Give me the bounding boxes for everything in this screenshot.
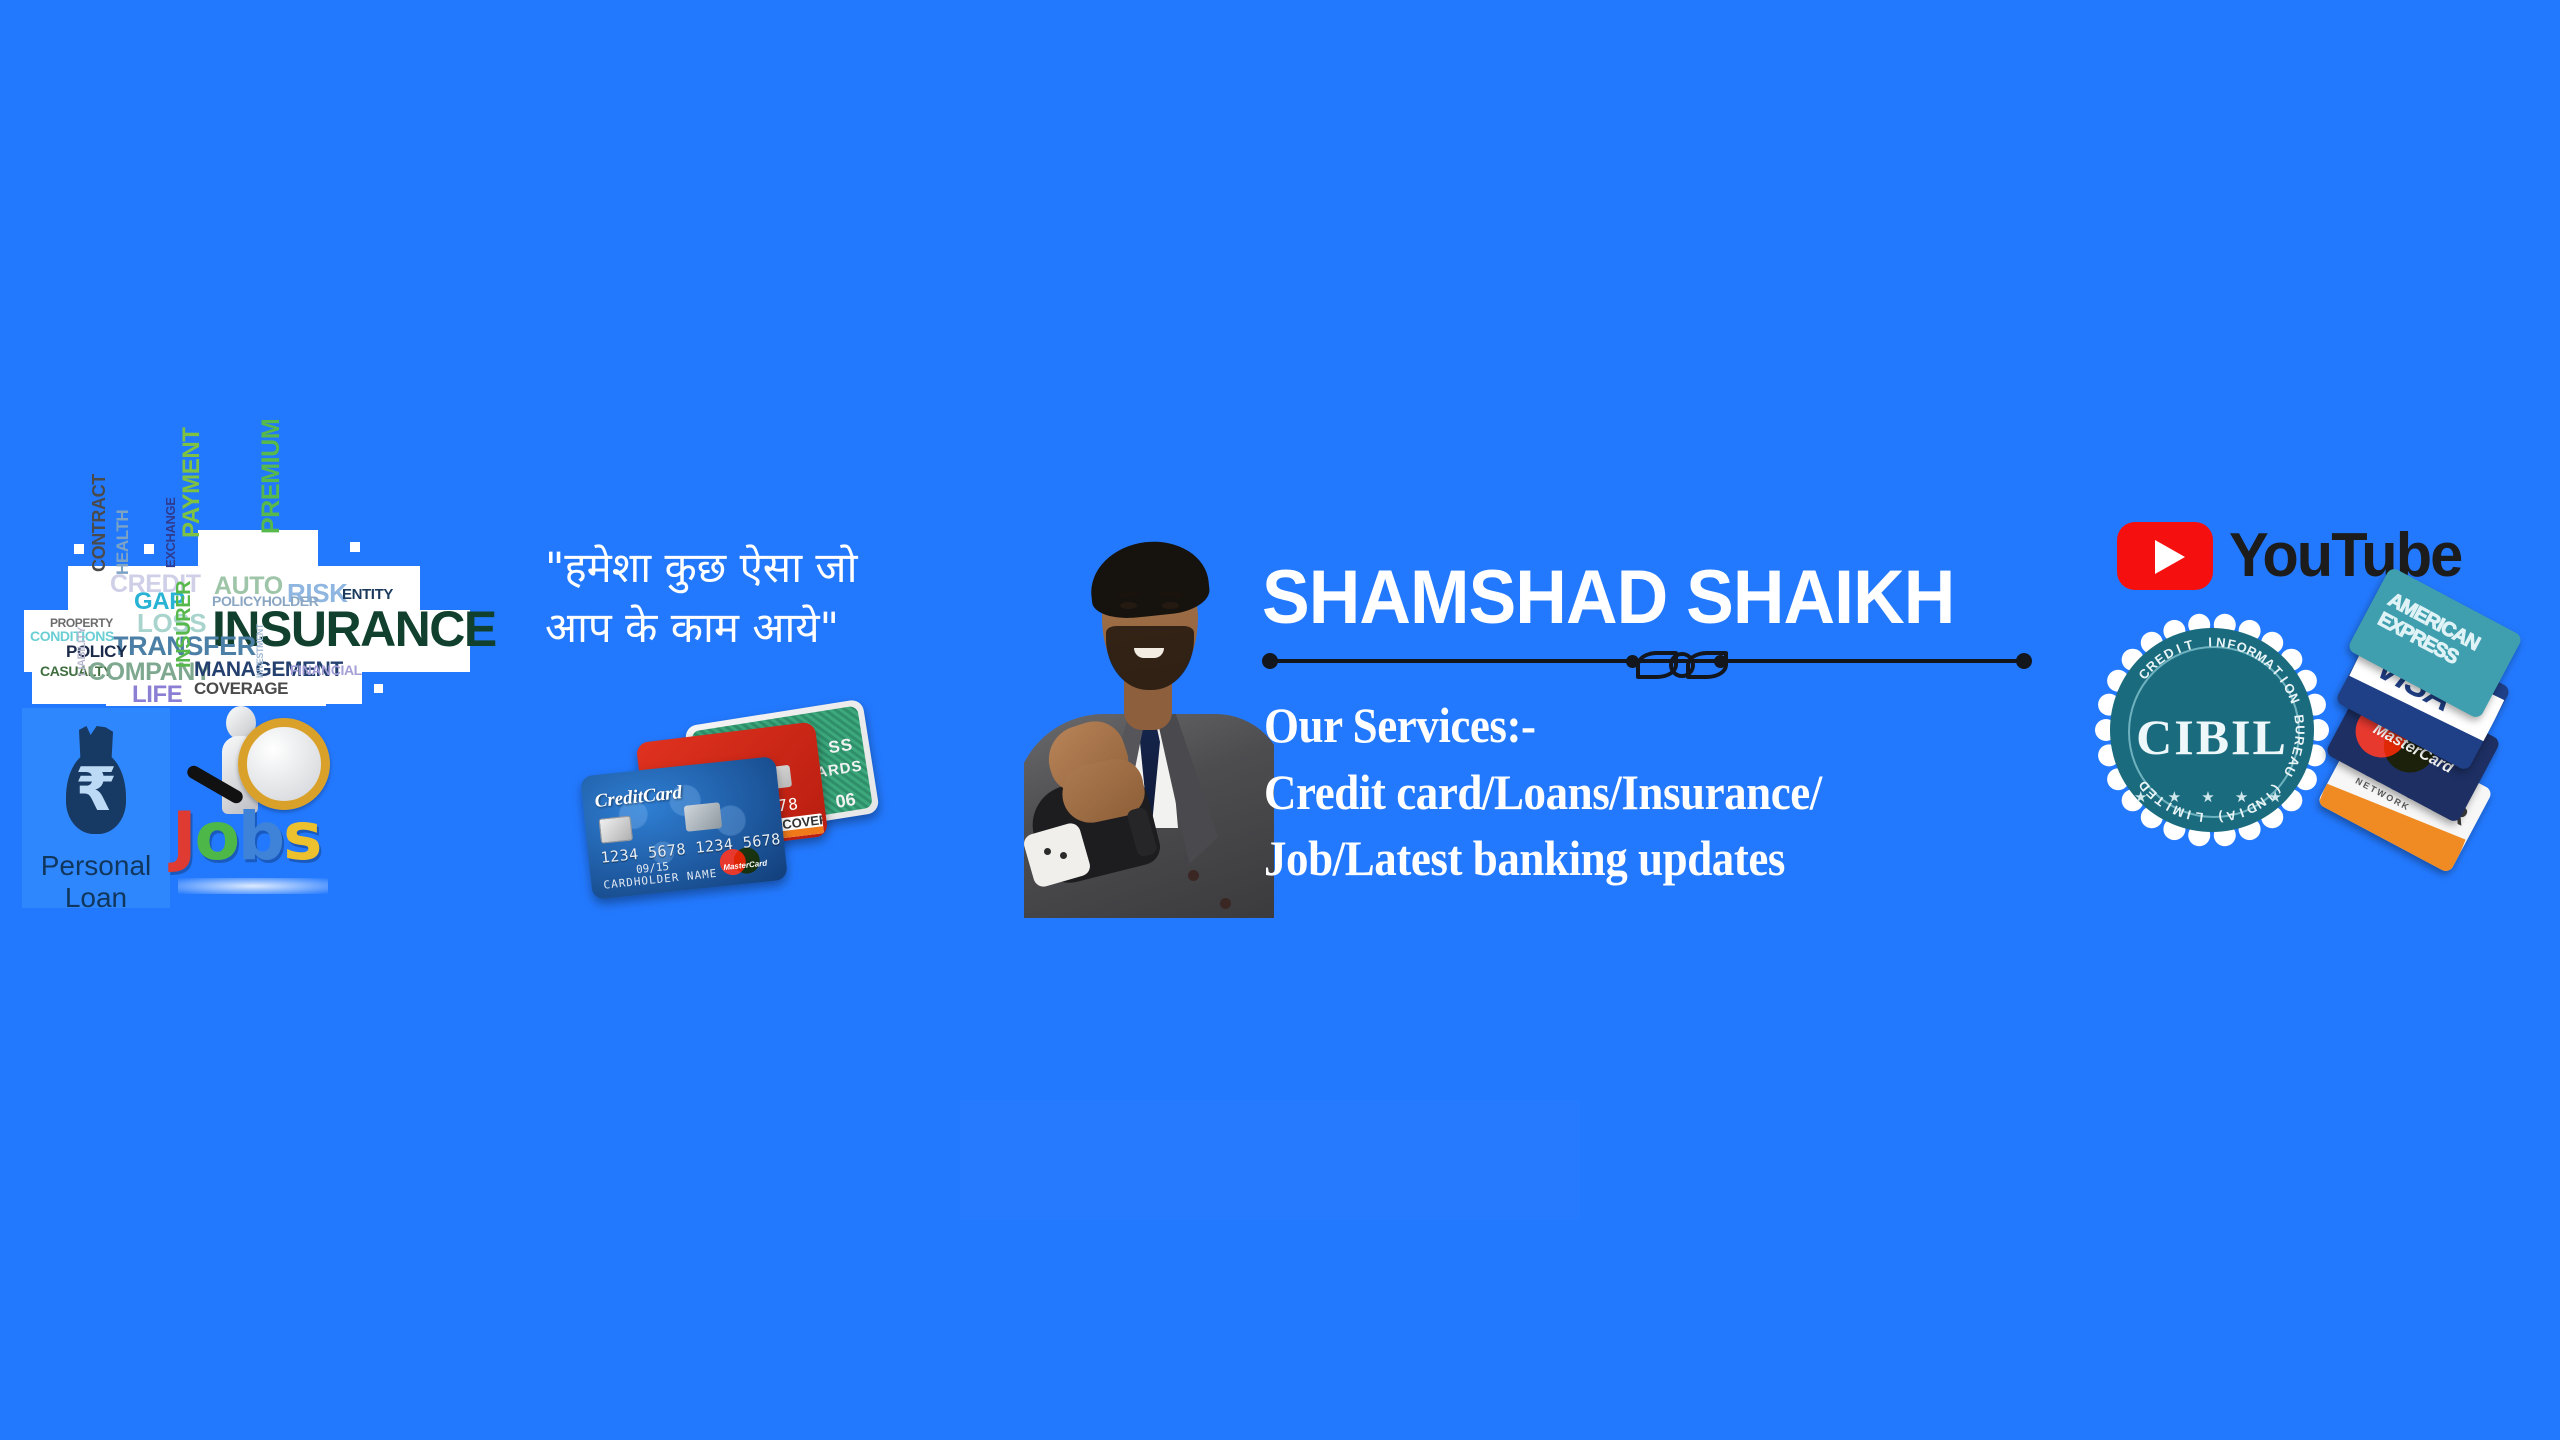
seal-ring-char: I [2185,807,2192,822]
youtube-wordmark: YouTube [2229,525,2461,587]
cibil-wordmark: CIBIL [2098,708,2326,766]
youtube-play-icon [2117,522,2213,590]
word-health: HEALTH [114,510,131,575]
seal-ring-char: I [2208,634,2212,649]
word-coverage: COVERAGE [194,680,288,697]
headline-block: SHAMSHAD SHAIKH [1262,560,2052,674]
services-line-1: Credit card/Loans/Insurance/ [1264,759,1984,826]
insurance-collage: INSURANCE RISK ENTITY PREMIUM AUTO POLIC… [22,528,522,918]
seal-ring-char: ) [2218,810,2224,825]
filigree-ornament-icon [1636,648,1720,674]
word-exchange: EXCHANGE [164,498,177,568]
seal-ring-char: I [2174,641,2183,656]
hologram-icon [684,802,723,832]
rupee-symbol: ₹ [60,760,132,820]
word-financial: FINANCIAL [290,663,362,677]
chip-icon [599,816,633,844]
seal-ring-char: I [2238,805,2246,820]
seal-ring-char [2208,810,2212,825]
channel-banner: INSURANCE RISK ENTITY PREMIUM AUTO POLIC… [0,0,2560,1440]
word-conditions: CONDITIONS [30,629,114,643]
jobs-tile: Jobs [172,700,332,912]
seal-ring-char: T [2183,637,2195,654]
services-line-2: Job/Latest banking updates [1264,825,1984,892]
insurance-word-cloud: INSURANCE RISK ENTITY PREMIUM AUTO POLIC… [22,528,472,708]
services-heading: Our Services:- [1264,692,1984,759]
page-title: SHAMSHAD SHAIKH [1262,560,2005,636]
services-list: Our Services:- Credit card/Loans/Insuran… [1264,692,1984,892]
background-artifact [960,1100,1580,1220]
jobs-letter-s: s [283,804,320,870]
word-contract: CONTRACT [90,474,108,572]
portrait-photo [1024,518,1274,918]
personal-loan-label: Personal Loan [22,850,170,914]
mastercard-logo: MasterCard [716,841,773,880]
word-investment: INVESTMENT [256,624,265,678]
seal-ring-char: N [2215,635,2226,651]
word-policyholder: POLICYHOLDER [212,594,318,608]
back-card-label-1: SS [827,735,855,759]
seal-ring-char: L [2194,809,2204,825]
seal-ring-char: A [2225,807,2237,824]
jobs-letter-j: J [172,804,195,870]
cibil-stars: ★ ★ ★ ★ ★ [2098,788,2326,806]
back-card-label-3: 06 [834,789,857,813]
word-insurer: INSURER [174,581,194,668]
credit-card-stack: SS ARDS 06 5678 DISCOVER CreditCard 1234… [586,712,906,907]
personal-loan-tile: ₹ Personal Loan [22,708,170,908]
word-liability: LIABILITY [77,627,88,676]
decorative-divider [1262,648,2032,674]
jobs-letter-o: o [195,804,238,870]
credit-card-front: CreditCard 1234 5678 1234 5678 09/15 CAR… [580,756,788,900]
jobs-letter-b: b [238,804,283,870]
tagline-line-1: "हमेशा कुछ ऐसा जो [545,538,975,598]
jobs-word: Jobs [172,804,332,870]
seal-ring-char [2196,635,2202,650]
money-bag-icon: ₹ [60,726,132,836]
word-premium: PREMIUM [259,419,284,534]
word-entity: ENTITY [342,587,393,602]
hindi-tagline: "हमेशा कुछ ऐसा जो आप के काम आये" [545,538,975,657]
tagline-line-2: आप के काम आये" [545,598,975,658]
cibil-seal: CREDIT INFORMATION BUREAU (INDIA) LIMITE… [2098,616,2326,844]
payment-card-fan: DISCOVER NETWORK MasterCard VISA AMERICA… [2326,600,2556,850]
word-payment: PAYMENT [180,427,204,538]
